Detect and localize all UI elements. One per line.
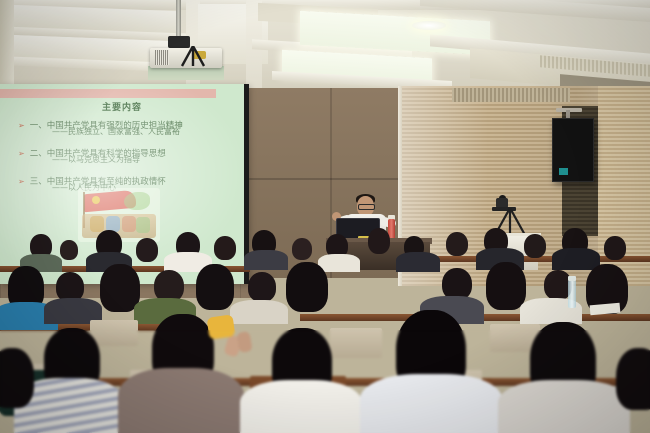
ceiling: [0, 0, 650, 96]
projector-ceiling-plate: [148, 66, 224, 80]
audience-area: [0, 228, 650, 433]
projector-vent: [155, 50, 169, 65]
projector-mount-pole: [176, 0, 181, 40]
lecture-hall-photo: 主要内容 ➢ 一、中国共产党具有强烈的历史担当精神 ——民族独立、国家富强、人民…: [0, 0, 650, 433]
audience-water-bottle-icon: [568, 280, 576, 308]
raised-hand: [236, 331, 252, 353]
air-vent-grille-icon: [452, 88, 570, 102]
yellow-garment: [207, 314, 236, 339]
wall-seam-horizontal: [248, 178, 400, 180]
projector-legs: [178, 46, 208, 68]
speaker-brand-logo: [559, 168, 568, 175]
presenter-glasses-icon: [358, 204, 375, 210]
round-ceiling-light-icon: [412, 21, 446, 30]
